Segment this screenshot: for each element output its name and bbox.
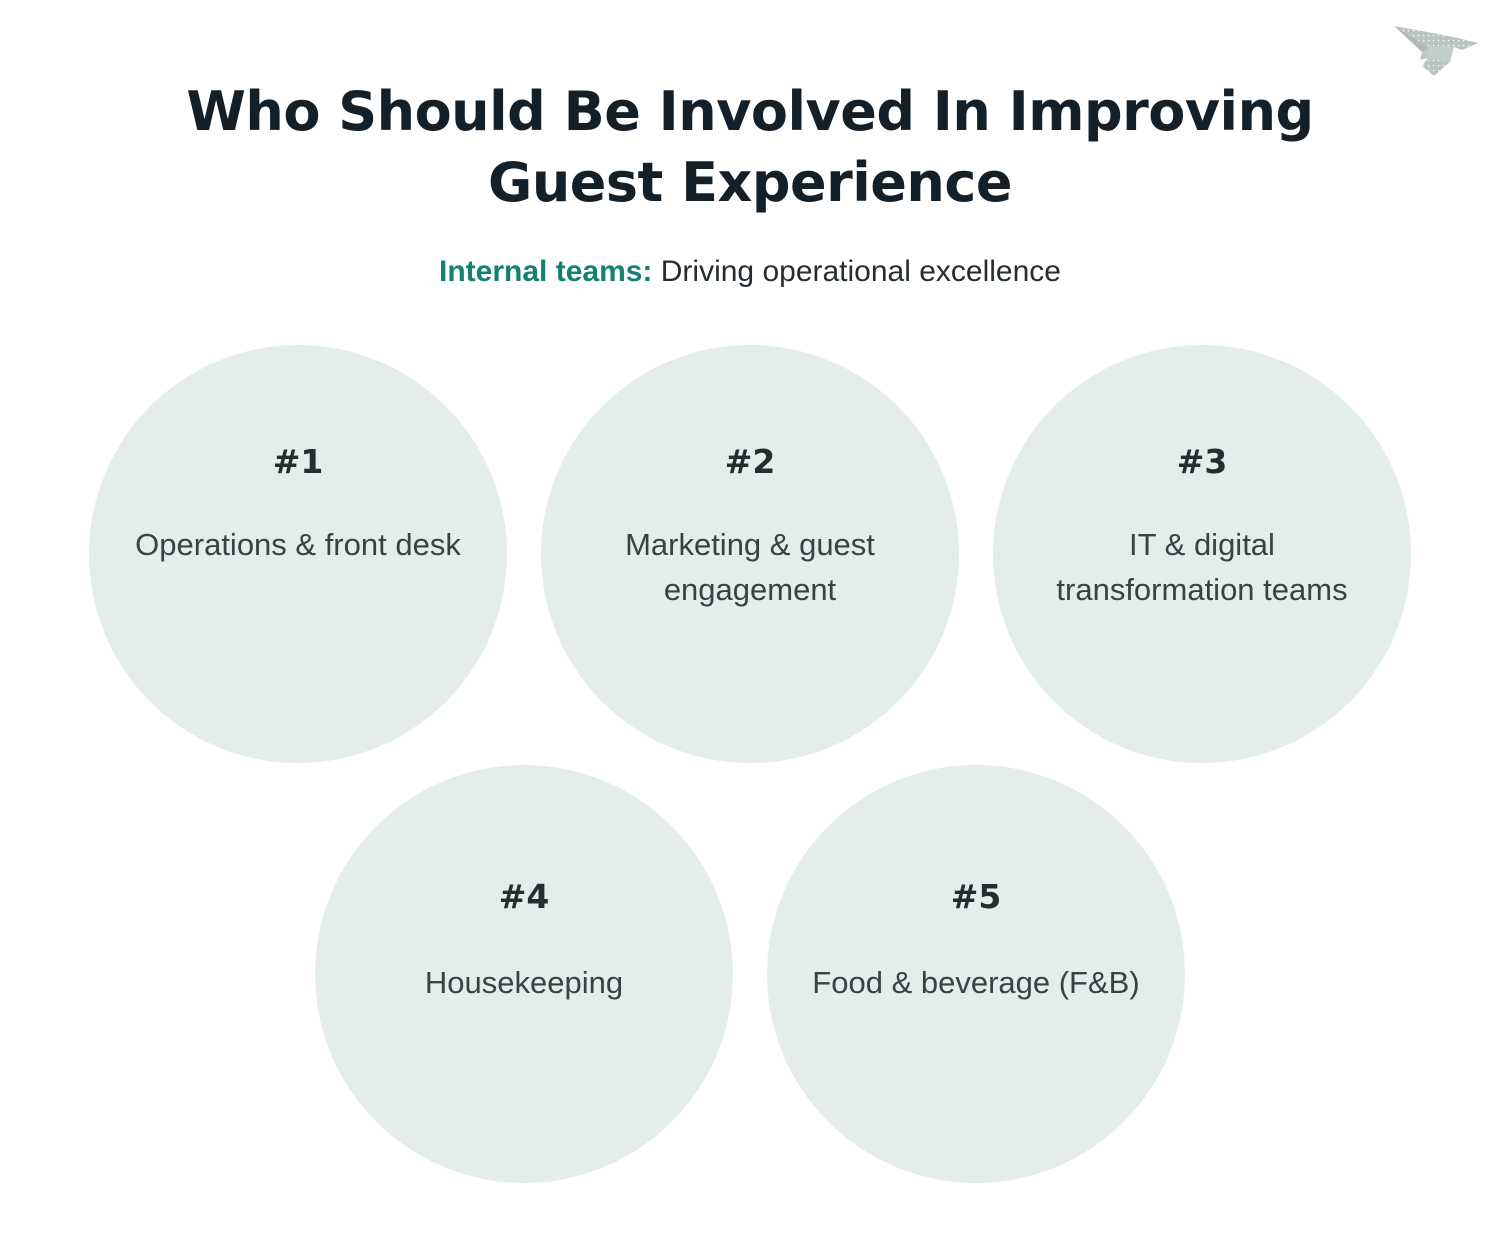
team-rank: #4 <box>499 880 550 913</box>
subtitle-lead: Internal teams: <box>439 255 652 288</box>
team-rank: #2 <box>725 445 776 478</box>
origami-bird-logo <box>1392 14 1482 80</box>
team-circle-5: #5 Food & beverage (F&B) <box>767 765 1185 1183</box>
team-label: Marketing & guest engagement <box>585 523 915 613</box>
page-title: Who Should Be Involved In Improving Gues… <box>150 76 1350 219</box>
team-rank: #1 <box>273 445 324 478</box>
team-circle-4: #4 Housekeeping <box>315 765 733 1183</box>
team-label: Operations & front desk <box>135 523 461 568</box>
team-label: IT & digital transformation teams <box>1037 523 1367 613</box>
team-rank: #3 <box>1177 445 1228 478</box>
subtitle-rest: Driving operational excellence <box>652 255 1061 288</box>
team-label: Food & beverage (F&B) <box>812 961 1139 1006</box>
infographic-page: Who Should Be Involved In Improving Gues… <box>0 0 1500 1251</box>
team-circle-1: #1 Operations & front desk <box>89 345 507 763</box>
page-subtitle: Internal teams: Driving operational exce… <box>150 251 1350 293</box>
team-label: Housekeeping <box>425 961 623 1006</box>
team-circle-3: #3 IT & digital transformation teams <box>993 345 1411 763</box>
team-rank: #5 <box>951 880 1002 913</box>
team-circle-2: #2 Marketing & guest engagement <box>541 345 959 763</box>
